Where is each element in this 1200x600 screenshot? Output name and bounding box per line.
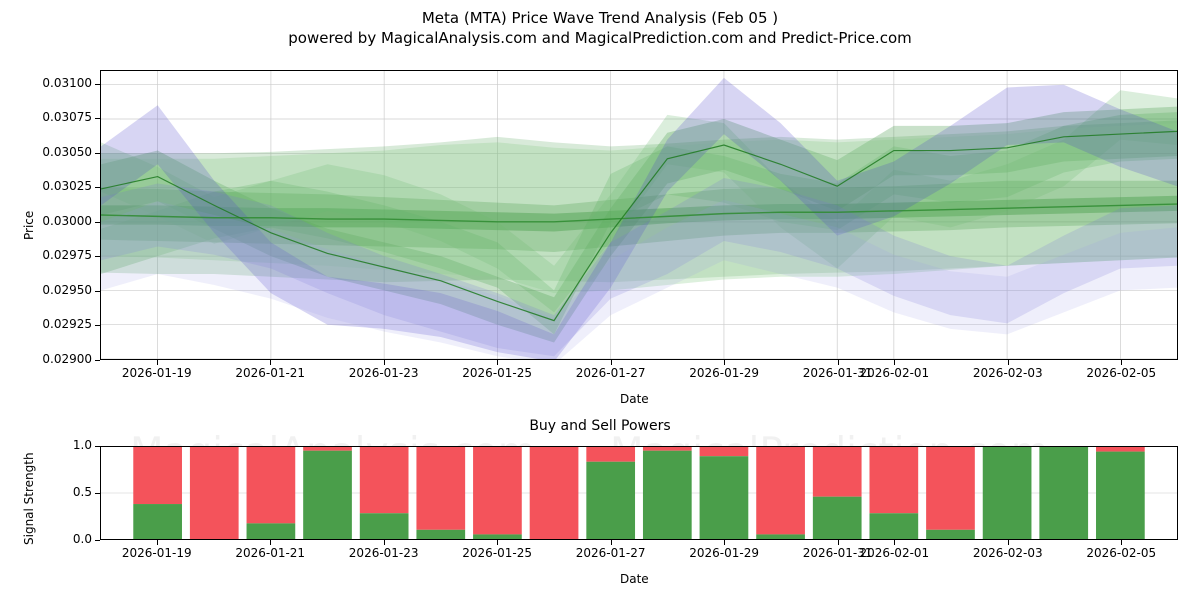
buy-power-bar <box>360 513 409 539</box>
price-y-tick-label: 0.02900 <box>20 352 92 366</box>
sell-power-bar <box>926 447 975 530</box>
price-x-tick-mark <box>157 360 158 365</box>
price-x-tick-label: 2026-02-01 <box>852 366 936 380</box>
sell-power-bar <box>1096 447 1145 452</box>
buy-power-bar <box>586 462 635 539</box>
price-y-tick-mark <box>95 153 100 154</box>
signal-y-tick-label: 0.0 <box>40 532 92 546</box>
price-x-tick-label: 2026-01-19 <box>115 366 199 380</box>
buy-power-bar <box>303 451 352 539</box>
buy-power-bar <box>247 523 296 539</box>
sell-power-bar <box>813 447 862 497</box>
price-x-tick-mark <box>1121 360 1122 365</box>
sell-power-bar <box>360 447 409 513</box>
signal-y-tick-mark <box>95 540 100 541</box>
price-x-tick-mark <box>270 360 271 365</box>
price-wave-svg <box>101 71 1177 359</box>
price-y-axis-label: Price <box>22 211 36 240</box>
buy-sell-powers-svg <box>101 447 1177 539</box>
signal-x-tick-mark <box>1008 540 1009 545</box>
signal-x-tick-label: 2026-02-03 <box>966 546 1050 560</box>
price-x-tick-label: 2026-01-29 <box>682 366 766 380</box>
signal-x-tick-label: 2026-01-25 <box>455 546 539 560</box>
buy-power-bar <box>1096 452 1145 539</box>
price-x-axis-label: Date <box>620 392 649 406</box>
signal-x-tick-mark <box>384 540 385 545</box>
signal-chart-title: Buy and Sell Powers <box>0 418 1200 434</box>
price-y-tick-mark <box>95 187 100 188</box>
price-y-tick-mark <box>95 256 100 257</box>
signal-y-tick-mark <box>95 446 100 447</box>
signal-x-tick-label: 2026-01-23 <box>342 546 426 560</box>
price-y-tick-label: 0.02975 <box>20 248 92 262</box>
price-x-tick-mark <box>1008 360 1009 365</box>
price-y-tick-mark <box>95 84 100 85</box>
buy-power-bar <box>133 504 182 539</box>
price-y-tick-mark <box>95 360 100 361</box>
sell-power-bar <box>416 447 465 530</box>
sell-power-bar <box>190 447 239 539</box>
signal-y-tick-mark <box>95 493 100 494</box>
buy-power-bar <box>700 456 749 539</box>
buy-power-bar <box>416 530 465 539</box>
price-y-tick-mark <box>95 222 100 223</box>
signal-x-tick-mark <box>838 540 839 545</box>
sell-power-bar <box>869 447 918 513</box>
price-y-tick-mark <box>95 325 100 326</box>
sell-power-bar <box>303 447 352 451</box>
price-x-tick-label: 2026-01-27 <box>569 366 653 380</box>
price-x-tick-label: 2026-02-03 <box>966 366 1050 380</box>
price-y-tick-label: 0.03100 <box>20 76 92 90</box>
buy-power-bar <box>473 534 522 539</box>
signal-x-tick-label: 2026-02-01 <box>852 546 936 560</box>
page-title: Meta (MTA) Price Wave Trend Analysis (Fe… <box>0 8 1200 28</box>
price-y-tick-label: 0.03075 <box>20 110 92 124</box>
signal-x-tick-label: 2026-01-21 <box>228 546 312 560</box>
signal-x-tick-label: 2026-01-19 <box>115 546 199 560</box>
sell-power-bar <box>530 447 579 539</box>
signal-x-axis-label: Date <box>620 572 649 586</box>
page-subtitle: powered by MagicalAnalysis.com and Magic… <box>0 28 1200 48</box>
sell-power-bar <box>586 447 635 462</box>
price-x-tick-mark <box>838 360 839 365</box>
price-x-tick-label: 2026-01-25 <box>455 366 539 380</box>
signal-x-tick-label: 2026-02-05 <box>1079 546 1163 560</box>
sell-power-bar <box>473 447 522 534</box>
sell-power-bar <box>756 447 805 534</box>
signal-x-tick-label: 2026-01-29 <box>682 546 766 560</box>
price-y-tick-label: 0.02925 <box>20 317 92 331</box>
buy-power-bar <box>869 513 918 539</box>
signal-x-tick-mark <box>157 540 158 545</box>
signal-x-tick-label: 2026-01-27 <box>569 546 653 560</box>
signal-y-tick-label: 1.0 <box>40 438 92 452</box>
price-x-tick-mark <box>894 360 895 365</box>
price-y-tick-mark <box>95 291 100 292</box>
signal-x-tick-mark <box>724 540 725 545</box>
price-x-tick-label: 2026-01-23 <box>342 366 426 380</box>
price-y-tick-label: 0.02950 <box>20 283 92 297</box>
signal-y-tick-label: 0.5 <box>40 485 92 499</box>
signal-x-tick-mark <box>611 540 612 545</box>
sell-power-bar <box>643 447 692 451</box>
price-x-tick-mark <box>497 360 498 365</box>
buy-power-bar <box>983 447 1032 539</box>
signal-x-tick-mark <box>270 540 271 545</box>
price-x-tick-mark <box>611 360 612 365</box>
price-y-tick-label: 0.03025 <box>20 179 92 193</box>
price-wave-chart-plot <box>100 70 1178 360</box>
sell-power-bar <box>133 447 182 504</box>
signal-x-tick-mark <box>497 540 498 545</box>
buy-sell-powers-plot <box>100 446 1178 540</box>
price-y-tick-mark <box>95 118 100 119</box>
signal-x-tick-mark <box>1121 540 1122 545</box>
price-x-tick-mark <box>724 360 725 365</box>
chart-header: Meta (MTA) Price Wave Trend Analysis (Fe… <box>0 8 1200 48</box>
buy-power-bar <box>756 534 805 539</box>
price-x-tick-mark <box>384 360 385 365</box>
buy-power-bar <box>926 530 975 539</box>
buy-power-bar <box>813 497 862 539</box>
sell-power-bar <box>700 447 749 456</box>
sell-power-bar <box>247 447 296 523</box>
buy-power-bar <box>643 451 692 539</box>
price-y-tick-label: 0.03050 <box>20 145 92 159</box>
signal-y-axis-label: Signal Strength <box>22 452 36 545</box>
signal-x-tick-mark <box>894 540 895 545</box>
buy-power-bar <box>1039 447 1088 539</box>
price-x-tick-label: 2026-01-21 <box>228 366 312 380</box>
price-x-tick-label: 2026-02-05 <box>1079 366 1163 380</box>
